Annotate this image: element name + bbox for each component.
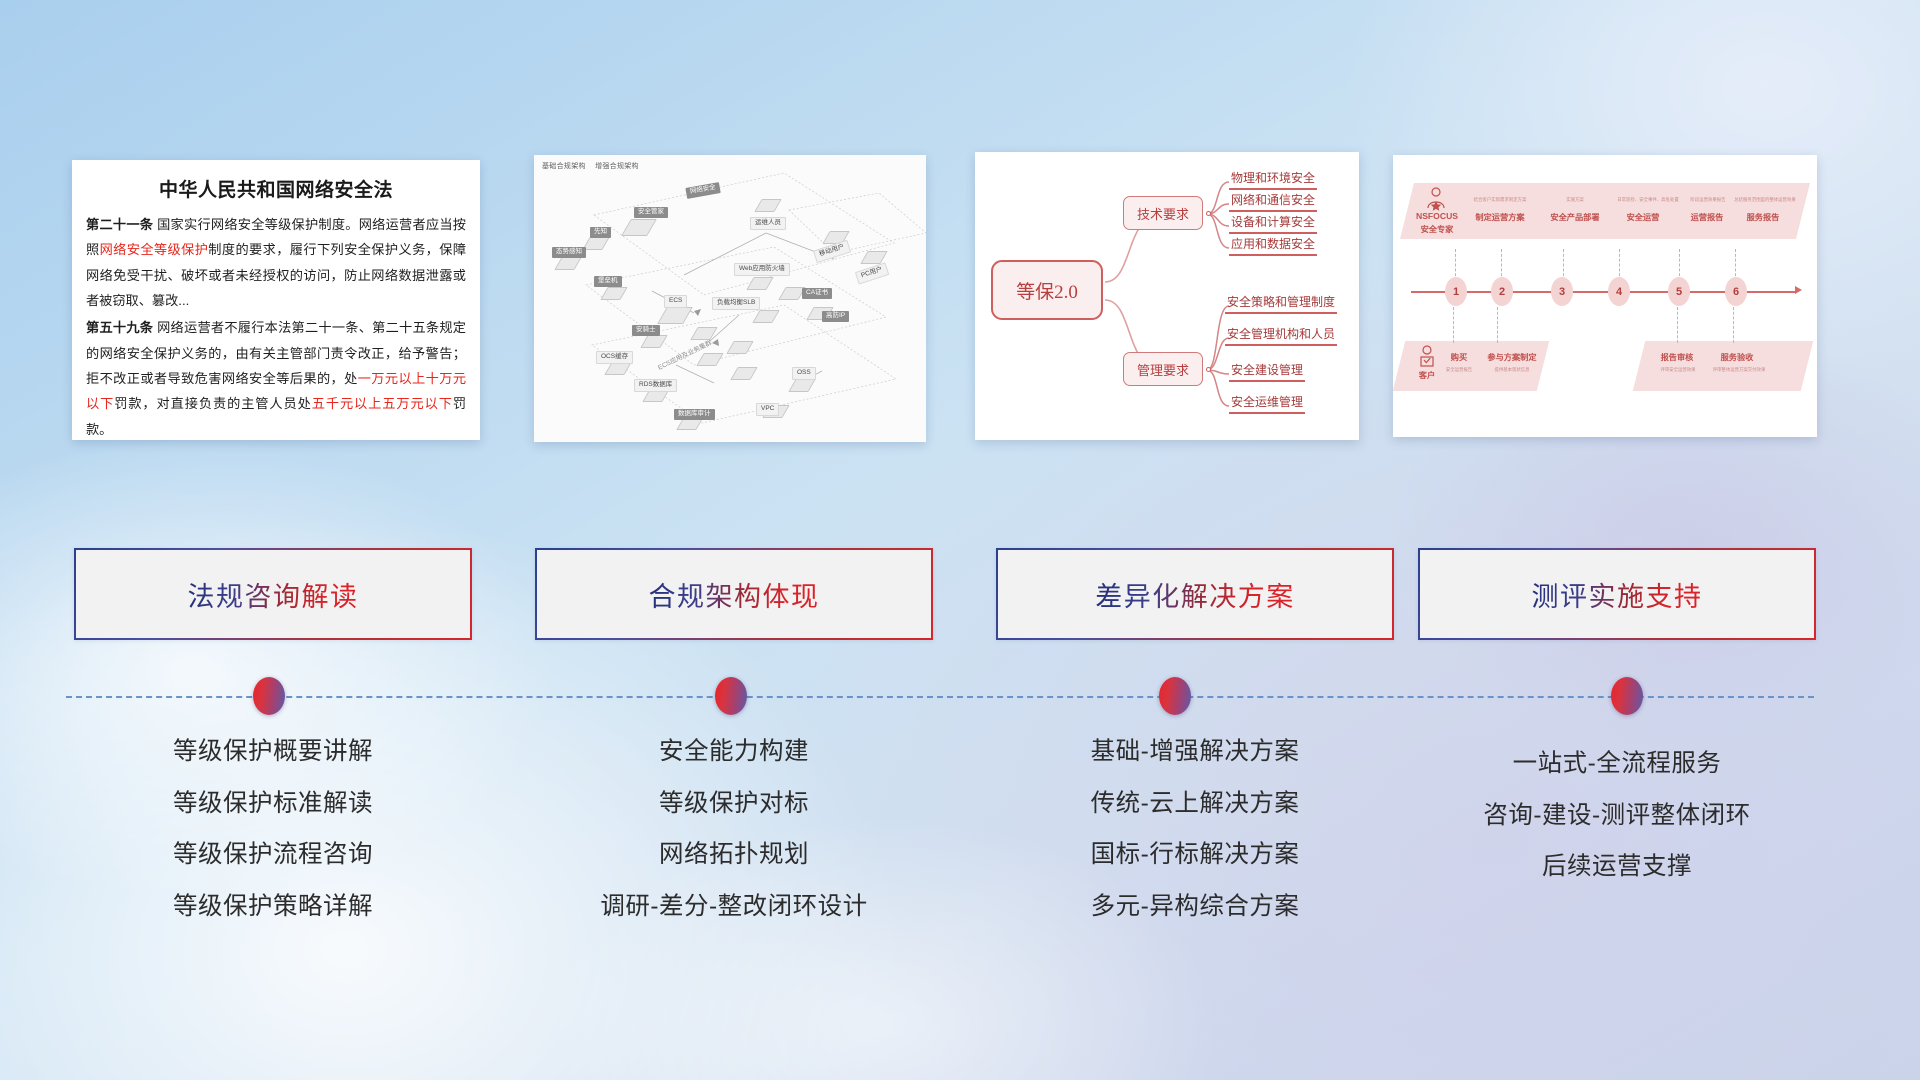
- node-label-situation-awareness: 态势感知: [552, 247, 586, 258]
- node-label-waf: Web应用防火墙: [734, 263, 790, 276]
- list-item: 等级保护标准解读: [74, 792, 472, 817]
- nsfocus-top-sub-1: 结合客户实际需求制定方案: [1457, 197, 1543, 203]
- nsfocus-top-label-3: 安全运营: [1607, 211, 1679, 223]
- nsfocus-timeline: NSFOCUS 安全专家 客户 结合客户实际需求制定方案 制定运营方案 实施方案…: [1393, 155, 1817, 437]
- law-card-title: 中华人民共和国网络安全法: [72, 175, 480, 202]
- mindmap-collapse-dot-management[interactable]: [1206, 367, 1211, 372]
- nsfocus-connector-7: [1453, 307, 1454, 343]
- node-label-ecs: ECS: [664, 295, 687, 308]
- bullet-list-1: 等级保护概要讲解 等级保护标准解读 等级保护流程咨询 等级保护策略详解: [74, 740, 472, 946]
- list-item: 等级保护概要讲解: [74, 740, 472, 765]
- law-article-label-1: 第二十一条: [86, 217, 153, 232]
- timeline-dot-3[interactable]: [1159, 677, 1191, 715]
- node-label-bastion-host: 堡垒机: [594, 276, 622, 287]
- nsfocus-connector-8: [1497, 307, 1498, 343]
- title-box-legal-consulting[interactable]: 法规咨询解读: [74, 548, 472, 640]
- architecture-card[interactable]: 基础合规架构 增强合规架构: [534, 155, 926, 442]
- card-row: 中华人民共和国网络安全法 第二十一条 国家实行网络安全等级保护制度。网络运营者应…: [0, 0, 1920, 460]
- architecture-diagram: 基础合规架构 增强合规架构: [534, 155, 926, 442]
- node-label-anqishi: 安骑士: [632, 325, 660, 336]
- nsfocus-bottom-label-2: 参与方案制定: [1477, 351, 1547, 363]
- mindmap-leaf-device-compute: 设备和计算安全: [1229, 215, 1317, 234]
- node-label-ca-certificate: CA证书: [802, 288, 832, 299]
- title-box-differentiated-solution[interactable]: 差异化解决方案: [996, 548, 1394, 640]
- customer-icon: [1417, 345, 1437, 369]
- nsfocus-connector-9: [1677, 307, 1678, 343]
- nsfocus-node-1[interactable]: 1: [1445, 277, 1467, 306]
- mindmap-leaf-physical-env: 物理和环境安全: [1229, 171, 1317, 190]
- list-item: 网络拓扑规划: [535, 843, 933, 868]
- node-label-ocs-cache: OCS缓存: [596, 351, 633, 364]
- nsfocus-bottom-label-1: 购买: [1437, 351, 1481, 363]
- mindmap: 等保2.0 技术要求 物理和环境安全 网络和通信安全 设备和计算安全 应用和数据…: [975, 152, 1359, 440]
- law-run-2-2: 罚款，对直接负责的主管人员处: [114, 396, 312, 411]
- mindmap-card[interactable]: 等保2.0 技术要求 物理和环境安全 网络和通信安全 设备和计算安全 应用和数据…: [975, 152, 1359, 440]
- list-item: 等级保护流程咨询: [74, 843, 472, 868]
- timeline-dashed-line: [66, 696, 1814, 698]
- mindmap-leaf-app-data: 应用和数据安全: [1229, 237, 1317, 256]
- nsfocus-node-3[interactable]: 3: [1551, 277, 1573, 306]
- law-run-2-3: 五千元以上五万元以下: [312, 396, 453, 411]
- title-label-3: 差异化解决方案: [1095, 575, 1295, 614]
- title-label-4: 测评实施支持: [1532, 575, 1703, 614]
- node-label-vpc: VPC: [756, 403, 779, 416]
- list-item: 安全能力构建: [535, 740, 933, 765]
- law-paragraph-1: 第二十一条 国家实行网络安全等级保护制度。网络运营者应当按照网络安全等级保护制度…: [86, 212, 466, 313]
- mindmap-leaf-network-comm: 网络和通信安全: [1229, 193, 1317, 212]
- nsfocus-bottom-label-3: 报告审核: [1651, 351, 1703, 363]
- list-item: 基础-增强解决方案: [996, 740, 1394, 765]
- list-item: 一站式-全流程服务: [1418, 752, 1816, 777]
- mindmap-leaf-ops-mgmt: 安全运维管理: [1229, 395, 1305, 414]
- nsfocus-top-label-2: 安全产品部署: [1539, 211, 1611, 223]
- list-item: 国标-行标解决方案: [996, 843, 1394, 868]
- mindmap-leaf-policy-system: 安全策略和管理制度: [1225, 295, 1337, 314]
- node-label-oss: OSS: [792, 367, 816, 380]
- title-box-compliance-architecture[interactable]: 合规架构体现: [535, 548, 933, 640]
- bullet-list-4: 一站式-全流程服务 咨询-建设-测评整体闭环 后续运营支撑: [1418, 752, 1816, 907]
- nsfocus-bottom-sub-2: 提供基本现状信息: [1477, 367, 1547, 373]
- bullet-list-3: 基础-增强解决方案 传统-云上解决方案 国标-行标解决方案 多元-异构综合方案: [996, 740, 1394, 946]
- node-label-ops-staff: 运维人员: [750, 217, 786, 230]
- nsfocus-axis-arrow-icon: [1795, 286, 1802, 294]
- nsfocus-bottom-label-4: 服务验收: [1711, 351, 1763, 363]
- nsfocus-expert-role: 安全专家: [1411, 223, 1463, 235]
- mindmap-branch-technical[interactable]: 技术要求: [1123, 196, 1203, 230]
- nsfocus-node-6[interactable]: 6: [1725, 277, 1747, 306]
- mindmap-branch-management[interactable]: 管理要求: [1123, 352, 1203, 386]
- nsfocus-bottom-sub-4: 评审整体运营方案交付效果: [1699, 367, 1779, 373]
- law-card[interactable]: 中华人民共和国网络安全法 第二十一条 国家实行网络安全等级保护制度。网络运营者应…: [72, 160, 480, 440]
- law-article-label-2: 第五十九条: [86, 320, 153, 335]
- nsfocus-card[interactable]: NSFOCUS 安全专家 客户 结合客户实际需求制定方案 制定运营方案 实施方案…: [1393, 155, 1817, 437]
- title-label-2: 合规架构体现: [649, 575, 820, 614]
- node-label-db-audit: 数据库审计: [674, 409, 715, 420]
- list-item: 后续运营支撑: [1418, 855, 1816, 880]
- timeline-dot-4[interactable]: [1611, 677, 1643, 715]
- law-paragraph-2: 第五十九条 网络运营者不履行本法第二十一条、第二十五条规定的网络安全保护义务的，…: [86, 315, 466, 440]
- mindmap-leaf-org-personnel: 安全管理机构和人员: [1225, 327, 1337, 346]
- list-item: 调研-差分-整改闭环设计: [535, 895, 933, 920]
- mindmap-root-node[interactable]: 等保2.0: [991, 260, 1103, 320]
- mindmap-leaf-construction-mgmt: 安全建设管理: [1229, 363, 1305, 382]
- list-item: 传统-云上解决方案: [996, 792, 1394, 817]
- mindmap-collapse-dot-technical[interactable]: [1206, 211, 1211, 216]
- list-item: 等级保护对标: [535, 792, 933, 817]
- nsfocus-node-5[interactable]: 5: [1668, 277, 1690, 306]
- node-label-anti-ddos-ip: 高防IP: [822, 311, 849, 322]
- list-item: 咨询-建设-测评整体闭环: [1418, 804, 1816, 829]
- list-item: 等级保护策略详解: [74, 895, 472, 920]
- node-label-slb: 负载均衡SLB: [712, 297, 760, 310]
- title-box-assessment-support[interactable]: 测评实施支持: [1418, 548, 1816, 640]
- security-expert-icon: [1425, 187, 1447, 211]
- bullet-list-2: 安全能力构建 等级保护对标 网络拓扑规划 调研-差分-整改闭环设计: [535, 740, 933, 946]
- node-label-xianzhi: 先知: [590, 227, 611, 238]
- node-label-security-butler: 安全管家: [634, 207, 668, 218]
- law-run-1-1: 网络安全等级保护: [100, 242, 209, 257]
- nsfocus-node-4[interactable]: 4: [1608, 277, 1630, 306]
- title-label-1: 法规咨询解读: [188, 575, 359, 614]
- nsfocus-top-label-1: 制定运营方案: [1457, 211, 1543, 223]
- timeline-dot-2[interactable]: [715, 677, 747, 715]
- nsfocus-node-2[interactable]: 2: [1491, 277, 1513, 306]
- timeline-dot-1[interactable]: [253, 677, 285, 715]
- nsfocus-bottom-band-right: [1633, 341, 1813, 391]
- nsfocus-connector-10: [1733, 307, 1734, 343]
- nsfocus-top-label-5: 服务报告: [1727, 211, 1799, 223]
- list-item: 多元-异构综合方案: [996, 895, 1394, 920]
- nsfocus-expert-brand: NSFOCUS: [1411, 211, 1463, 221]
- law-card-body: 第二十一条 国家实行网络安全等级保护制度。网络运营者应当按照网络安全等级保护制度…: [72, 202, 480, 440]
- node-label-rds-database: RDS数据库: [634, 379, 677, 392]
- nsfocus-top-sub-5: 总结服务范围里的整体运营效果: [1717, 197, 1813, 203]
